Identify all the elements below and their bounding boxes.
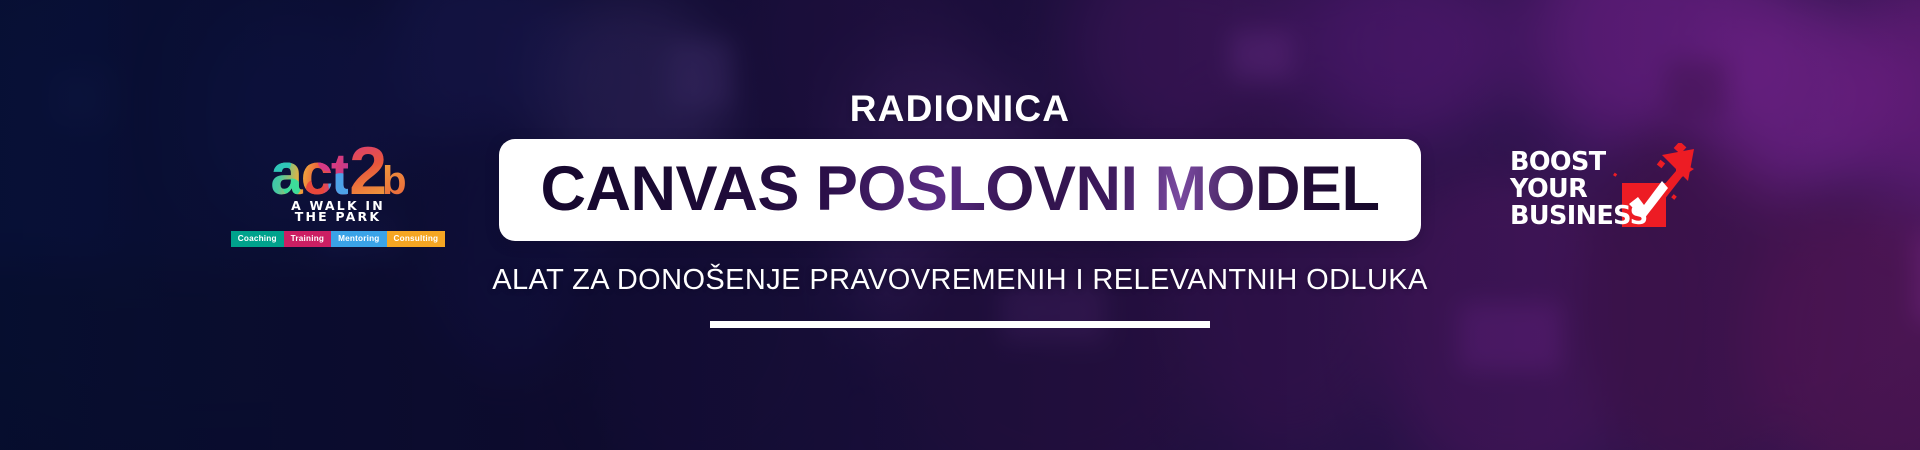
boost-line-1: BOOST	[1510, 149, 1648, 176]
event-subtitle: ALAT ZA DONOŠENJE PRAVOVREMENIH I RELEVA…	[0, 263, 1920, 297]
event-banner: act 2 b A WALK IN THE PARK Coaching Trai…	[0, 0, 1920, 450]
boost-your-business-wordmark: BOOST YOUR BUSINESS	[1510, 149, 1648, 230]
page-title: CANVAS POSLOVNI MODEL	[541, 154, 1380, 224]
boost-line-2: YOUR	[1510, 176, 1648, 203]
title-pill: CANVAS POSLOVNI MODEL	[499, 139, 1422, 241]
boost-your-business-logo: BOOST YOUR BUSINESS	[1510, 143, 1690, 248]
divider	[710, 321, 1210, 328]
boost-line-3: BUSINESS	[1510, 203, 1648, 230]
event-kicker: RADIONICA	[0, 88, 1920, 130]
banner-content: act 2 b A WALK IN THE PARK Coaching Trai…	[0, 0, 1920, 450]
